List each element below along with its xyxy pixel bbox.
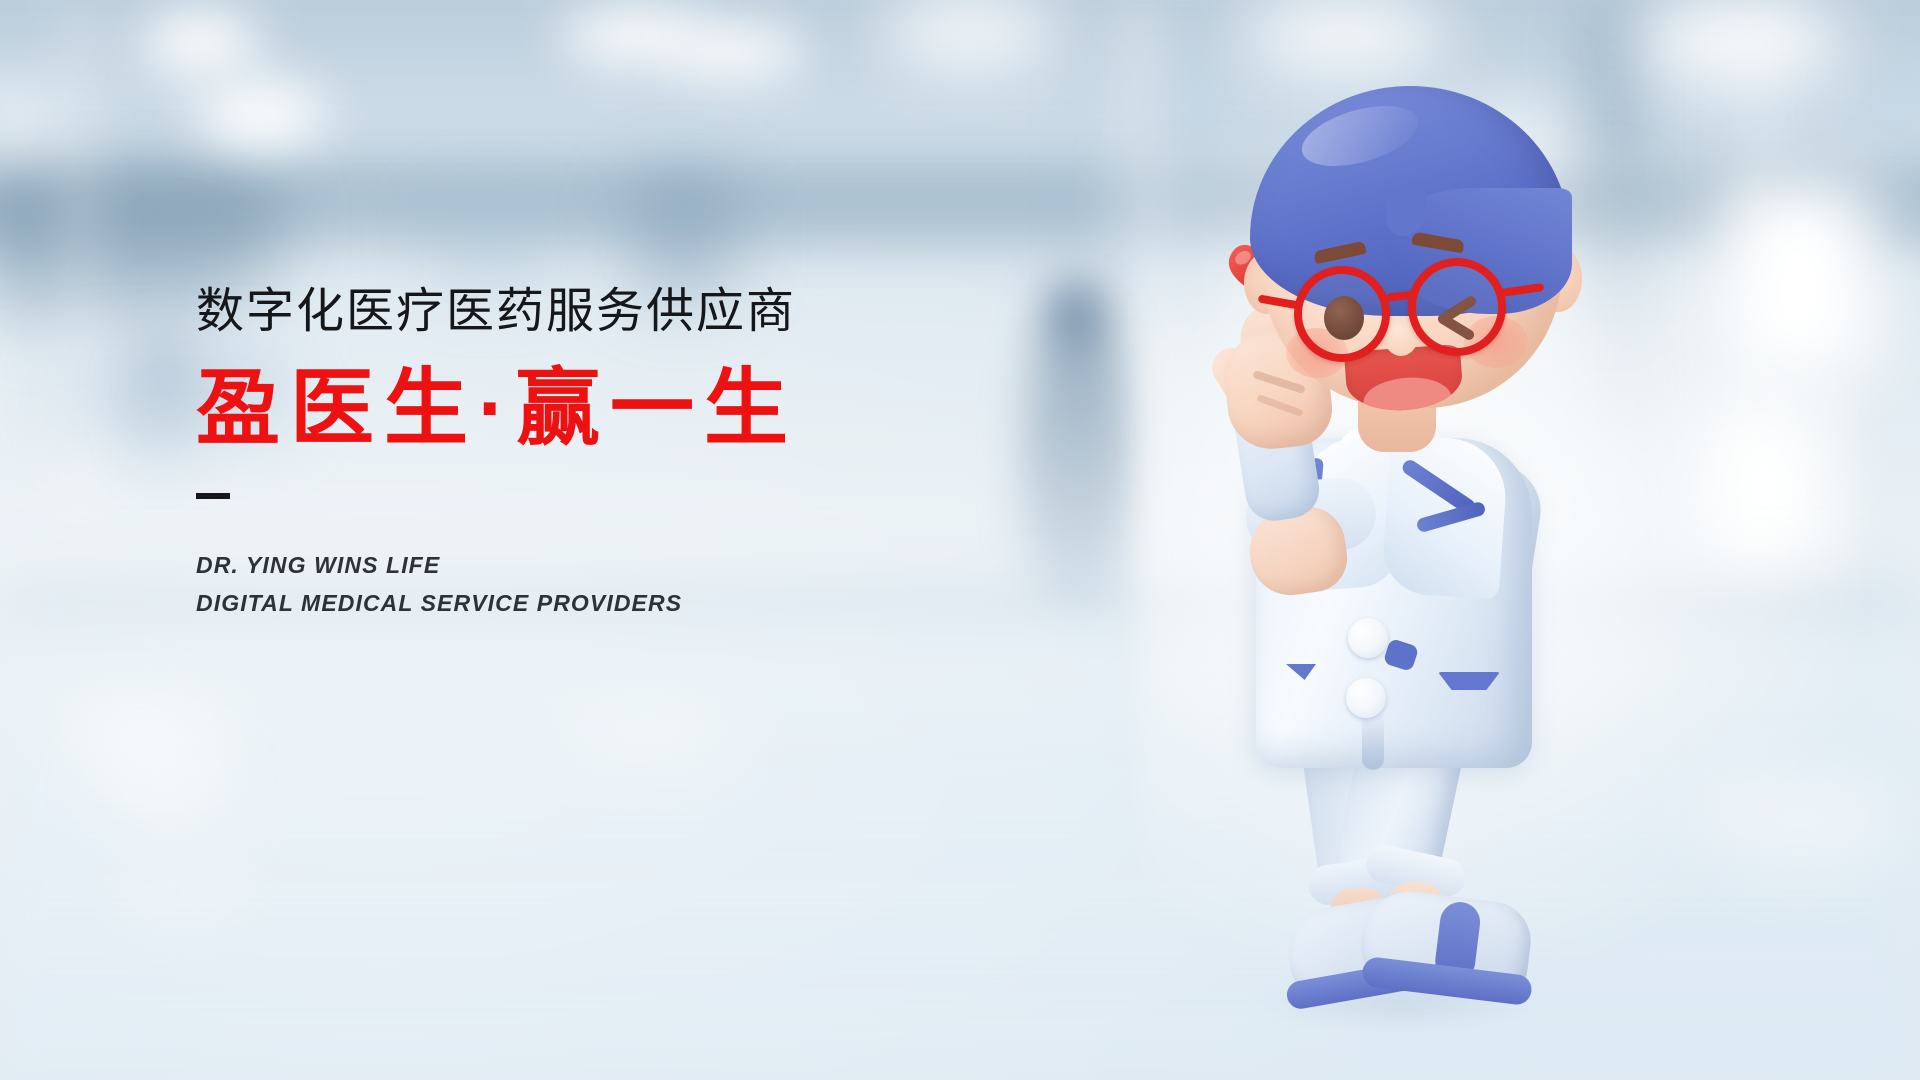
- banner-stage: 数字化医疗医药服务供应商 盈医生·赢一生 DR. YING WINS LIFE …: [0, 0, 1920, 1080]
- hero-english-block: DR. YING WINS LIFE DIGITAL MEDICAL SERVI…: [196, 547, 956, 622]
- hero-copy: 数字化医疗医药服务供应商 盈医生·赢一生 DR. YING WINS LIFE …: [196, 285, 956, 622]
- hero-english-line-2: DIGITAL MEDICAL SERVICE PROVIDERS: [196, 585, 956, 622]
- hero-subheadline-cn: 数字化医疗医药服务供应商: [196, 285, 956, 339]
- mascot-coat-button-top: [1348, 618, 1388, 658]
- hero-headline-cn: 盈医生·赢一生: [196, 363, 956, 454]
- mascot-glasses-lens-right: [1408, 258, 1506, 356]
- hero-english-line-1: DR. YING WINS LIFE: [196, 547, 956, 584]
- hero-divider-rule: [196, 493, 230, 499]
- mascot-coat-button-bottom: [1346, 678, 1386, 718]
- doctor-mascot: [1190, 40, 1610, 1050]
- mascot-glasses-lens-left: [1294, 266, 1390, 362]
- mascot-tongue: [1362, 375, 1453, 414]
- mascot-coat-hem-notch: [1362, 712, 1384, 770]
